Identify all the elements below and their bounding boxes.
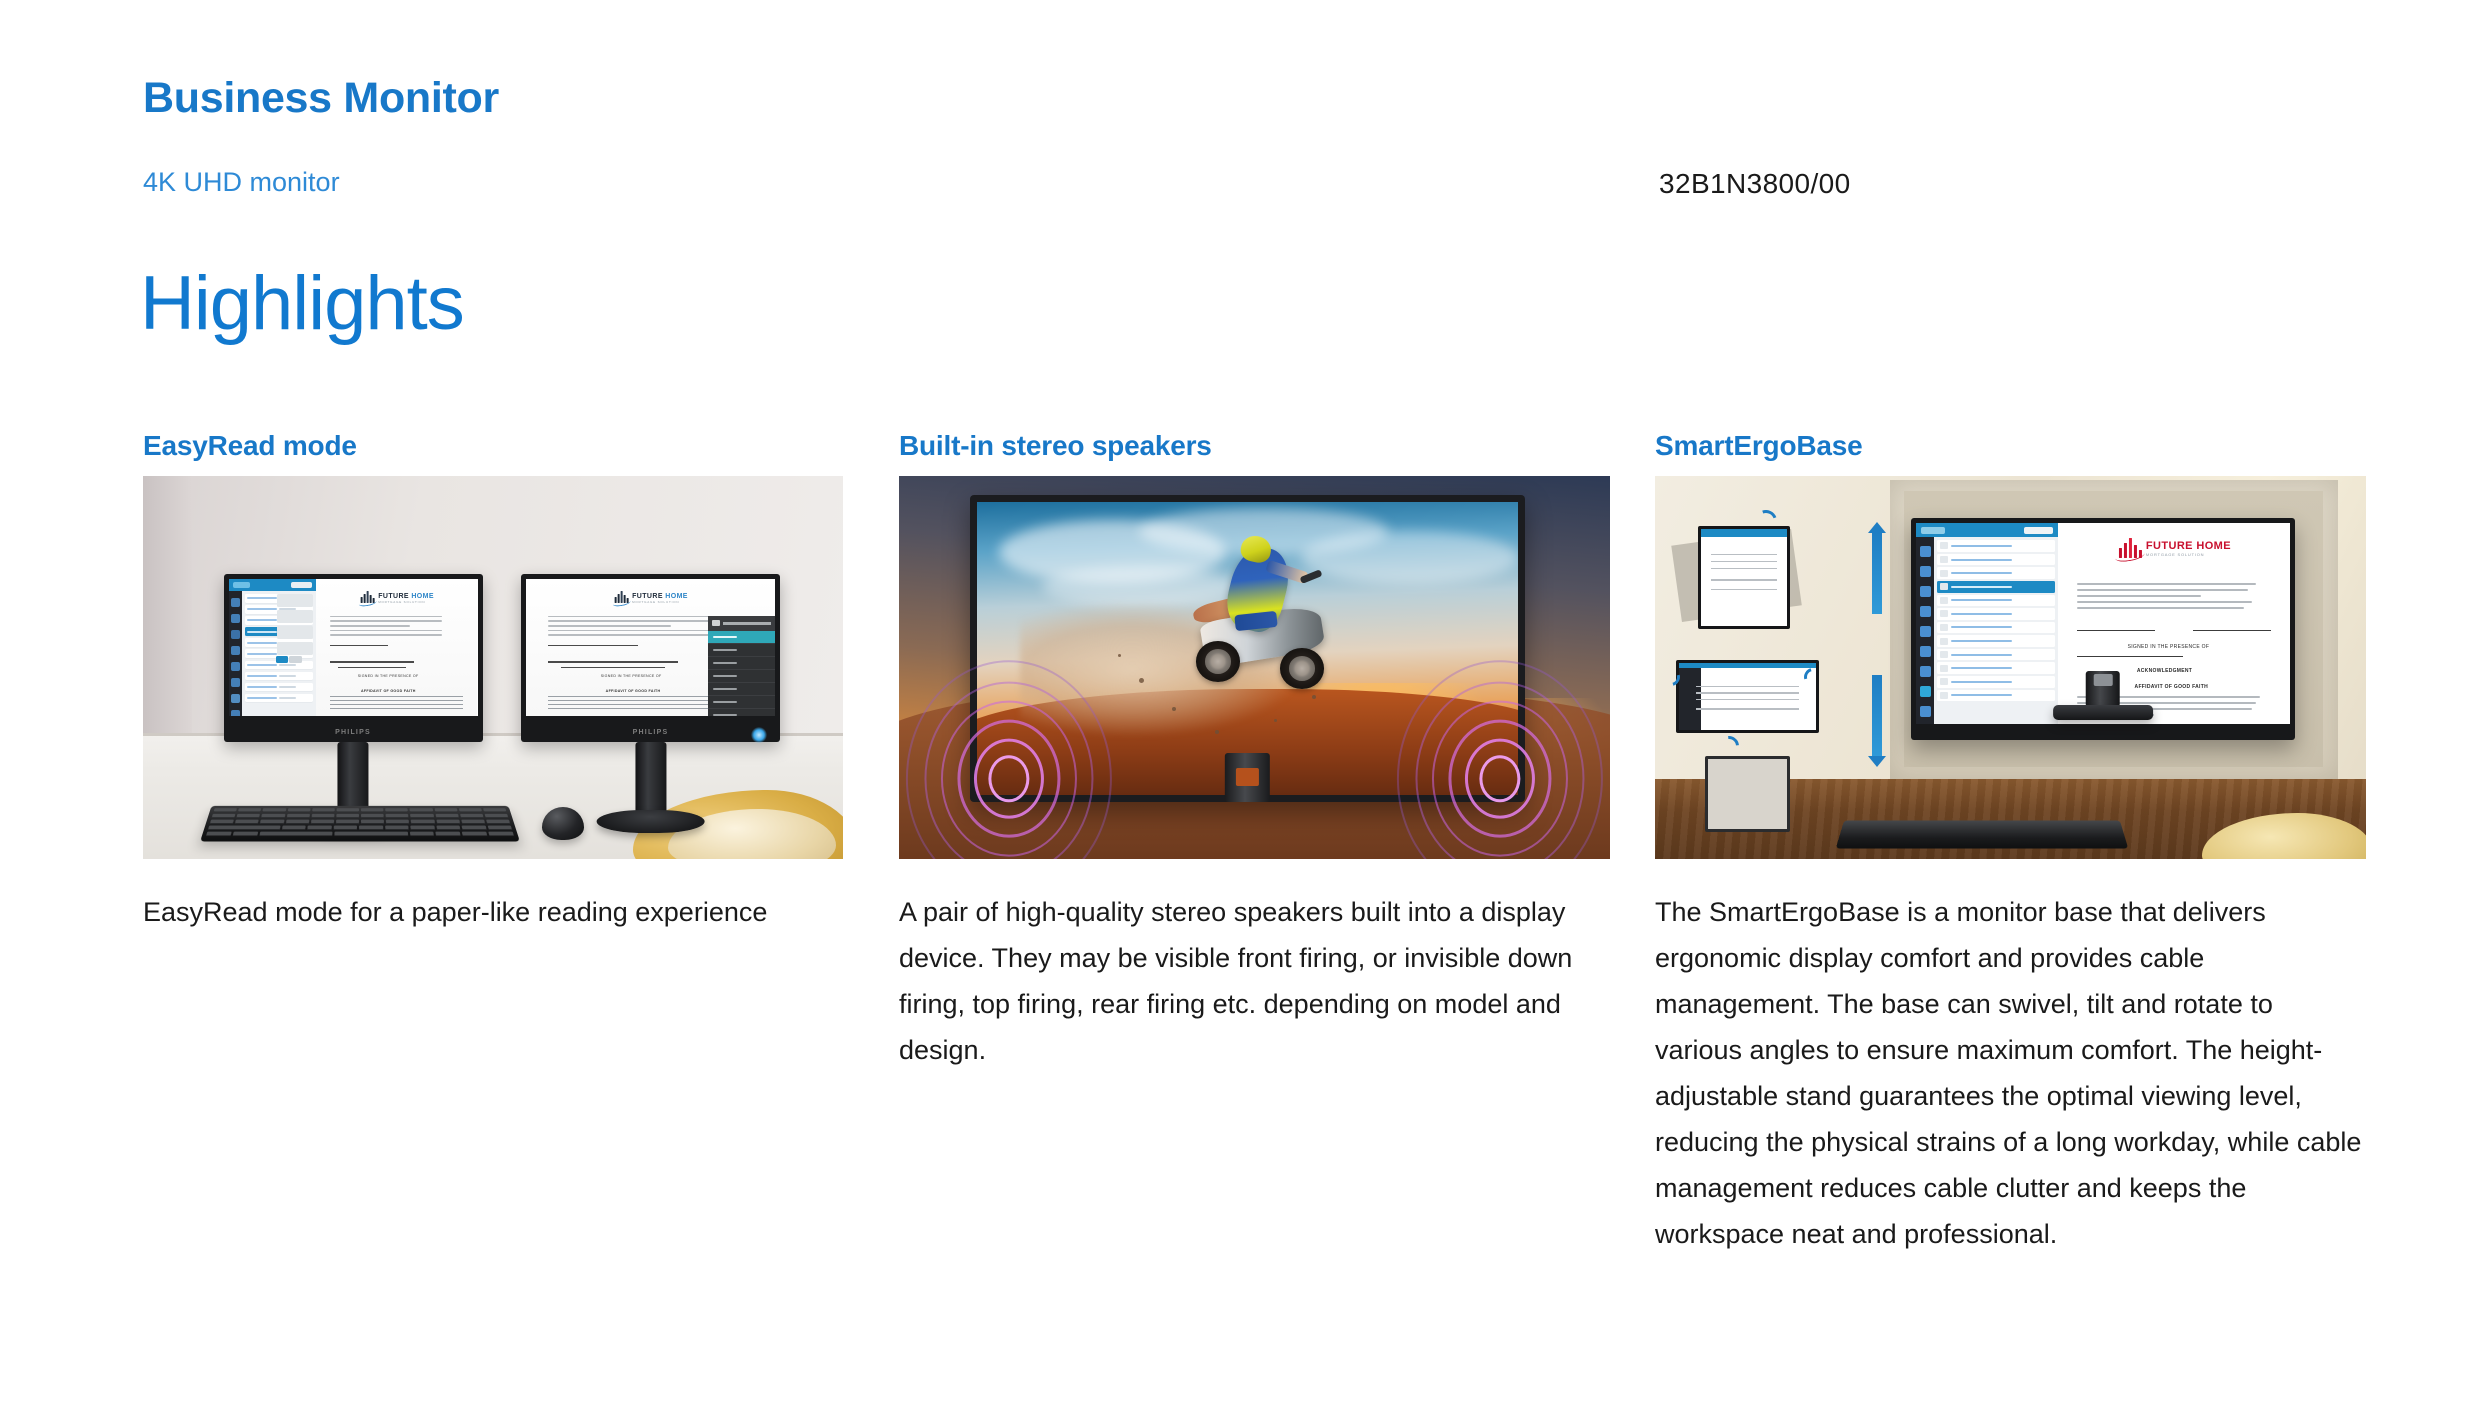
doc-caption-affidavit: AFFIDAVIT OF GOOD FAITH [2135, 684, 2208, 690]
logo-subtitle: MORTGAGE SOLUTION [2146, 553, 2231, 557]
osd-item[interactable] [708, 709, 775, 716]
keyboard [200, 805, 520, 841]
highlight-title: SmartErgoBase [1655, 430, 2366, 462]
thumbnail-pivot [1698, 526, 1790, 629]
section-heading: Highlights [140, 260, 464, 347]
doc-caption-affidavit: AFFIDAVIT OF GOOD FAITH [361, 689, 416, 693]
osd-item[interactable] [708, 683, 775, 696]
height-down-arrow-icon [1868, 675, 1886, 767]
monitor-right: FUTURE HOME MORTGAGE SOLUTION [521, 574, 780, 743]
page-title: Business Monitor [143, 74, 499, 123]
wall-corner [143, 476, 192, 736]
osd-item[interactable] [708, 670, 775, 683]
monitor-base [2053, 705, 2153, 721]
keyboard [1835, 820, 2128, 849]
doc-caption-signed: SIGNED IN THE PRESENCE OF [601, 674, 662, 678]
product-subtitle: 4K UHD monitor [143, 167, 340, 198]
stereo-speakers-image [899, 476, 1610, 859]
mouse [542, 807, 584, 840]
smartergobase-image: FUTURE HOME MORTGAGE SOLUTION [1655, 476, 2366, 859]
speaker-wave-left-icon [906, 660, 1112, 859]
highlight-column-smartergobase: SmartErgoBase [1655, 430, 2366, 1257]
osd-item[interactable] [708, 657, 775, 670]
doc-caption-acknowledgment: ACKNOWLEDGMENT [2137, 668, 2192, 674]
monitor-left: FUTURE HOME MORTGAGE SOLUTION [224, 574, 483, 743]
doc-caption-signed: SIGNED IN THE PRESENCE OF [358, 674, 419, 678]
logo-subtitle: MORTGAGE SOLUTION [378, 601, 434, 604]
osd-header [708, 616, 775, 631]
highlight-title: EasyRead mode [143, 430, 854, 462]
document-page: FUTURE HOME MORTGAGE SOLUTION [316, 579, 478, 717]
stand-plate [1236, 768, 1258, 786]
motocross-rider [1193, 543, 1334, 718]
osd-item[interactable] [708, 696, 775, 709]
highlight-column-speakers: Built-in stereo speakers [899, 430, 1610, 1073]
monitor-neck [2086, 671, 2121, 707]
highlight-description: A pair of high-quality stereo speakers b… [899, 889, 1610, 1073]
monitor-neck [635, 742, 666, 813]
osd-item[interactable] [708, 644, 775, 657]
logo-subtitle: MORTGAGE SOLUTION [632, 601, 688, 604]
monitor-brand: PHILIPS [633, 729, 669, 736]
doc-caption-affidavit: AFFIDAVIT OF GOOD FAITH [606, 689, 661, 693]
highlight-description: The SmartErgoBase is a monitor base that… [1655, 889, 2366, 1257]
easyread-image: FUTURE HOME MORTGAGE SOLUTION [143, 476, 843, 859]
future-home-logo: FUTURE HOME MORTGAGE SOLUTION [359, 591, 434, 606]
osd-menu[interactable] [708, 616, 775, 716]
model-number: 32B1N3800/00 [1659, 168, 1851, 200]
monitor-main: FUTURE HOME MORTGAGE SOLUTION [1911, 518, 2295, 740]
monitor-neck [337, 742, 368, 813]
thumbnail-swivel [1676, 660, 1818, 733]
app-panel [229, 579, 316, 717]
monitor-brand: PHILIPS [335, 729, 371, 736]
highlight-title: Built-in stereo speakers [899, 430, 1610, 462]
highlight-description: EasyRead mode for a paper-like reading e… [143, 889, 854, 935]
monitor-base [596, 810, 705, 834]
thumbnail-tilt [1705, 756, 1790, 833]
speaker-wave-right-icon [1397, 660, 1603, 859]
future-home-logo: FUTURE HOME MORTGAGE SOLUTION [613, 591, 688, 606]
datasheet-page: Business Monitor 4K UHD monitor 32B1N380… [0, 0, 2479, 1401]
doc-caption-signed: SIGNED IN THE PRESENCE OF [2128, 644, 2210, 650]
height-up-arrow-icon [1868, 522, 1886, 614]
osd-item-selected[interactable] [708, 631, 775, 644]
highlight-column-easyread: EasyRead mode [143, 430, 854, 935]
power-led-icon [751, 727, 767, 743]
future-home-logo: FUTURE HOME MORTGAGE SOLUTION [2117, 537, 2231, 561]
